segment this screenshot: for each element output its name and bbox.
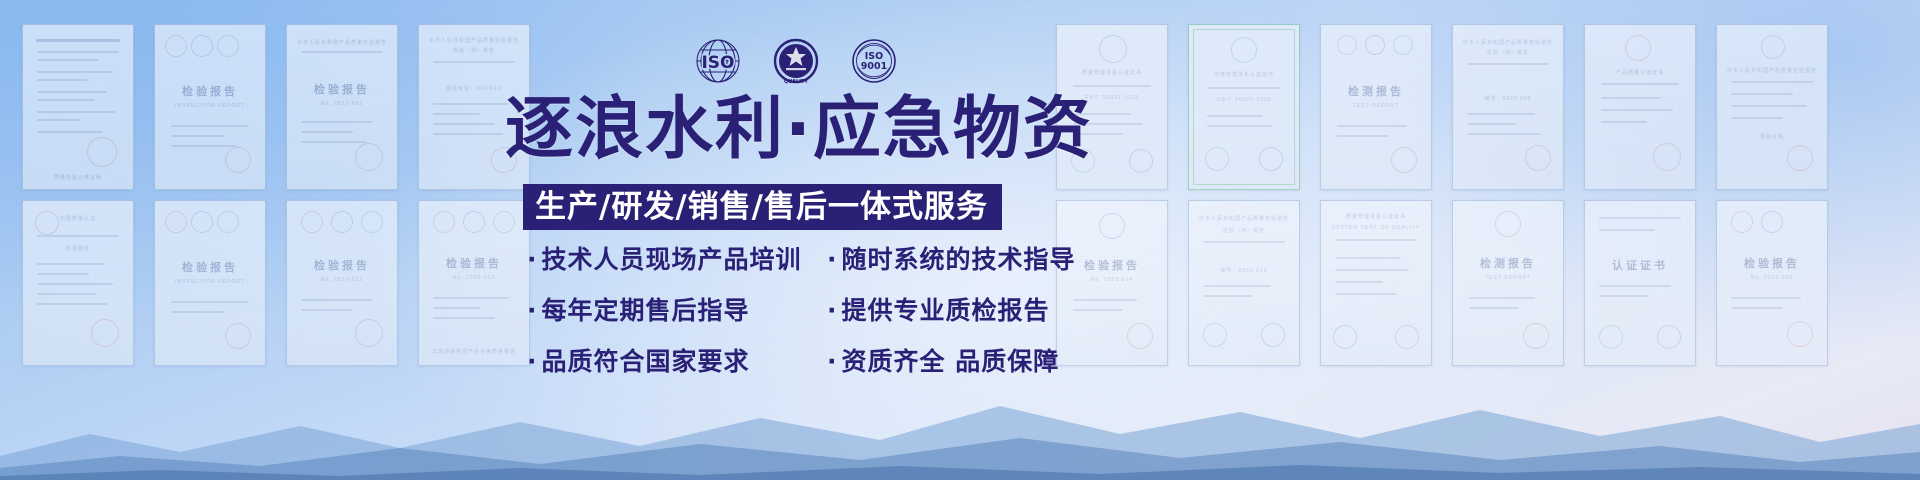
banner-subtitle-bar: 生产/研发/销售/售后一体式服务: [523, 184, 1002, 230]
bullet-dot-icon: ·: [827, 296, 838, 325]
bullet-dot-icon: ·: [827, 347, 838, 376]
banner-title: 逐浪水利·应急物资: [505, 96, 1093, 164]
list-item: ·每年定期售后指导: [527, 297, 809, 326]
bullet-dot-icon: ·: [527, 296, 538, 325]
list-item: ·品质符合国家要求: [527, 348, 809, 377]
bullet-dot-icon: ·: [527, 347, 538, 376]
list-item: ·随时系统的技术指导: [827, 246, 1076, 275]
banner-subtitle: 生产/研发/销售/售后一体式服务: [535, 192, 988, 223]
list-item-label: 技术人员现场产品培训: [542, 245, 802, 274]
list-item: ·提供专业质检报告: [827, 297, 1076, 326]
service-feature-list: ·技术人员现场产品培训 ·随时系统的技术指导 ·每年定期售后指导 ·提供专业质检…: [527, 246, 1076, 376]
list-item-label: 提供专业质检报告: [842, 296, 1050, 325]
banner-content: 逐浪水利·应急物资 生产/研发/销售/售后一体式服务 ·技术人员现场产品培训 ·…: [0, 0, 1920, 480]
list-item-label: 资质齐全 品质保障: [842, 347, 1060, 376]
bullet-dot-icon: ·: [827, 245, 838, 274]
list-item: ·技术人员现场产品培训: [527, 246, 809, 275]
list-item: ·资质齐全 品质保障: [827, 348, 1076, 377]
list-item-label: 每年定期售后指导: [542, 296, 750, 325]
list-item-label: 品质符合国家要求: [542, 347, 750, 376]
bullet-dot-icon: ·: [527, 245, 538, 274]
promotional-banner: 质量检验合格证明 检验报告 INSPECTION REPORT 中华人民共和国产…: [0, 0, 1920, 480]
list-item-label: 随时系统的技术指导: [842, 245, 1076, 274]
